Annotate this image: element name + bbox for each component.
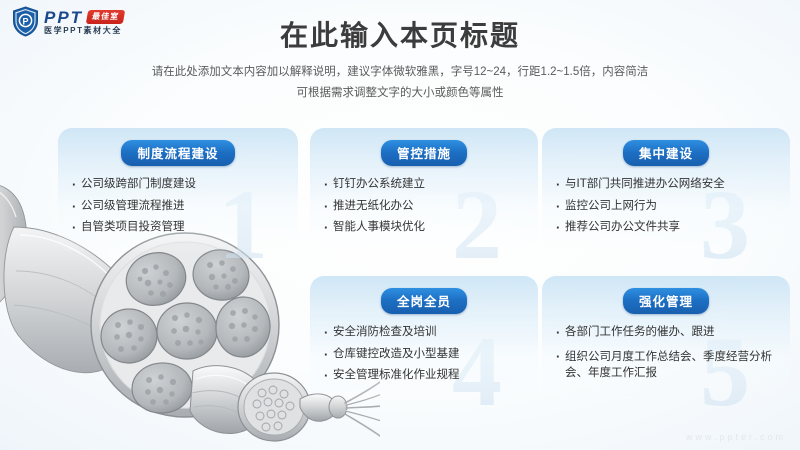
card-1-badge[interactable]: 制度流程建设 bbox=[121, 140, 234, 166]
card-4-bullet-3: 安全管理标准化作业规程 bbox=[324, 370, 524, 382]
card-5-bullet-1: 各部门工作任务的催办、跟进 bbox=[556, 327, 776, 339]
page-subtitle: 请在此处添加文本内容加以解释说明，建议字体微软雅黑，字号12~24，行距1.2~… bbox=[80, 62, 720, 105]
card-4-bullet-1: 安全消防检查及培训 bbox=[324, 327, 524, 339]
card-2-bullet-1: 钉钉办公系统建立 bbox=[324, 179, 524, 191]
card-1-bullet-list: 公司级跨部门制度建设 公司级管理流程推进 自管类项目投资管理 bbox=[72, 179, 284, 234]
card-1-bullet-1: 公司级跨部门制度建设 bbox=[72, 179, 284, 191]
card-2-bullet-list: 钉钉办公系统建立 推进无纸化办公 智能人事模块优化 bbox=[324, 179, 524, 234]
card-1-bullet-2: 公司级管理流程推进 bbox=[72, 201, 284, 213]
content-card-5[interactable]: 强化管理 各部门工作任务的催办、跟进 组织公司月度工作总结会、季度经营分析会、年… bbox=[542, 276, 790, 400]
site-watermark: www.ppter.com bbox=[686, 432, 786, 442]
subtitle-line-2: 可根据需求调整文字的大小或颜色等属性 bbox=[80, 83, 720, 104]
card-2-bullet-2: 推进无纸化办公 bbox=[324, 201, 524, 213]
card-5-badge[interactable]: 强化管理 bbox=[623, 288, 709, 314]
card-2-bullet-3: 智能人事模块优化 bbox=[324, 222, 524, 234]
card-3-badge[interactable]: 集中建设 bbox=[623, 140, 709, 166]
card-4-bullet-2: 仓库键控改造及小型基建 bbox=[324, 349, 524, 361]
card-4-badge[interactable]: 全岗全员 bbox=[381, 288, 467, 314]
card-4-bullet-list: 安全消防检查及培训 仓库键控改造及小型基建 安全管理标准化作业规程 bbox=[324, 327, 524, 382]
content-card-2[interactable]: 管控措施 钉钉办公系统建立 推进无纸化办公 智能人事模块优化 bbox=[310, 128, 538, 252]
card-3-bullet-2: 监控公司上网行为 bbox=[556, 201, 776, 213]
card-3-bullet-list: 与IT部门共同推进办公网络安全 监控公司上网行为 推荐公司办公文件共享 bbox=[556, 179, 776, 234]
slide-canvas: P PPT 最佳室 医学PPT素材大全 在此输入本页标题 请在此处添加文本内容加… bbox=[0, 0, 800, 450]
card-5-bullet-2: 组织公司月度工作总结会、季度经营分析会、年度工作汇报 bbox=[556, 349, 776, 382]
subtitle-line-1: 请在此处添加文本内容加以解释说明，建议字体微软雅黑，字号12~24，行距1.2~… bbox=[80, 62, 720, 83]
card-1-bullet-3: 自管类项目投资管理 bbox=[72, 222, 284, 234]
card-2-badge[interactable]: 管控措施 bbox=[381, 140, 467, 166]
card-3-bullet-1: 与IT部门共同推进办公网络安全 bbox=[556, 179, 776, 191]
card-3-bullet-3: 推荐公司办公文件共享 bbox=[556, 222, 776, 234]
page-title: 在此输入本页标题 bbox=[0, 14, 800, 54]
content-card-1[interactable]: 制度流程建设 公司级跨部门制度建设 公司级管理流程推进 自管类项目投资管理 bbox=[58, 128, 298, 252]
card-5-bullet-list: 各部门工作任务的催办、跟进 组织公司月度工作总结会、季度经营分析会、年度工作汇报 bbox=[556, 327, 776, 382]
content-card-3[interactable]: 集中建设 与IT部门共同推进办公网络安全 监控公司上网行为 推荐公司办公文件共享 bbox=[542, 128, 790, 252]
content-card-4[interactable]: 全岗全员 安全消防检查及培训 仓库键控改造及小型基建 安全管理标准化作业规程 bbox=[310, 276, 538, 400]
